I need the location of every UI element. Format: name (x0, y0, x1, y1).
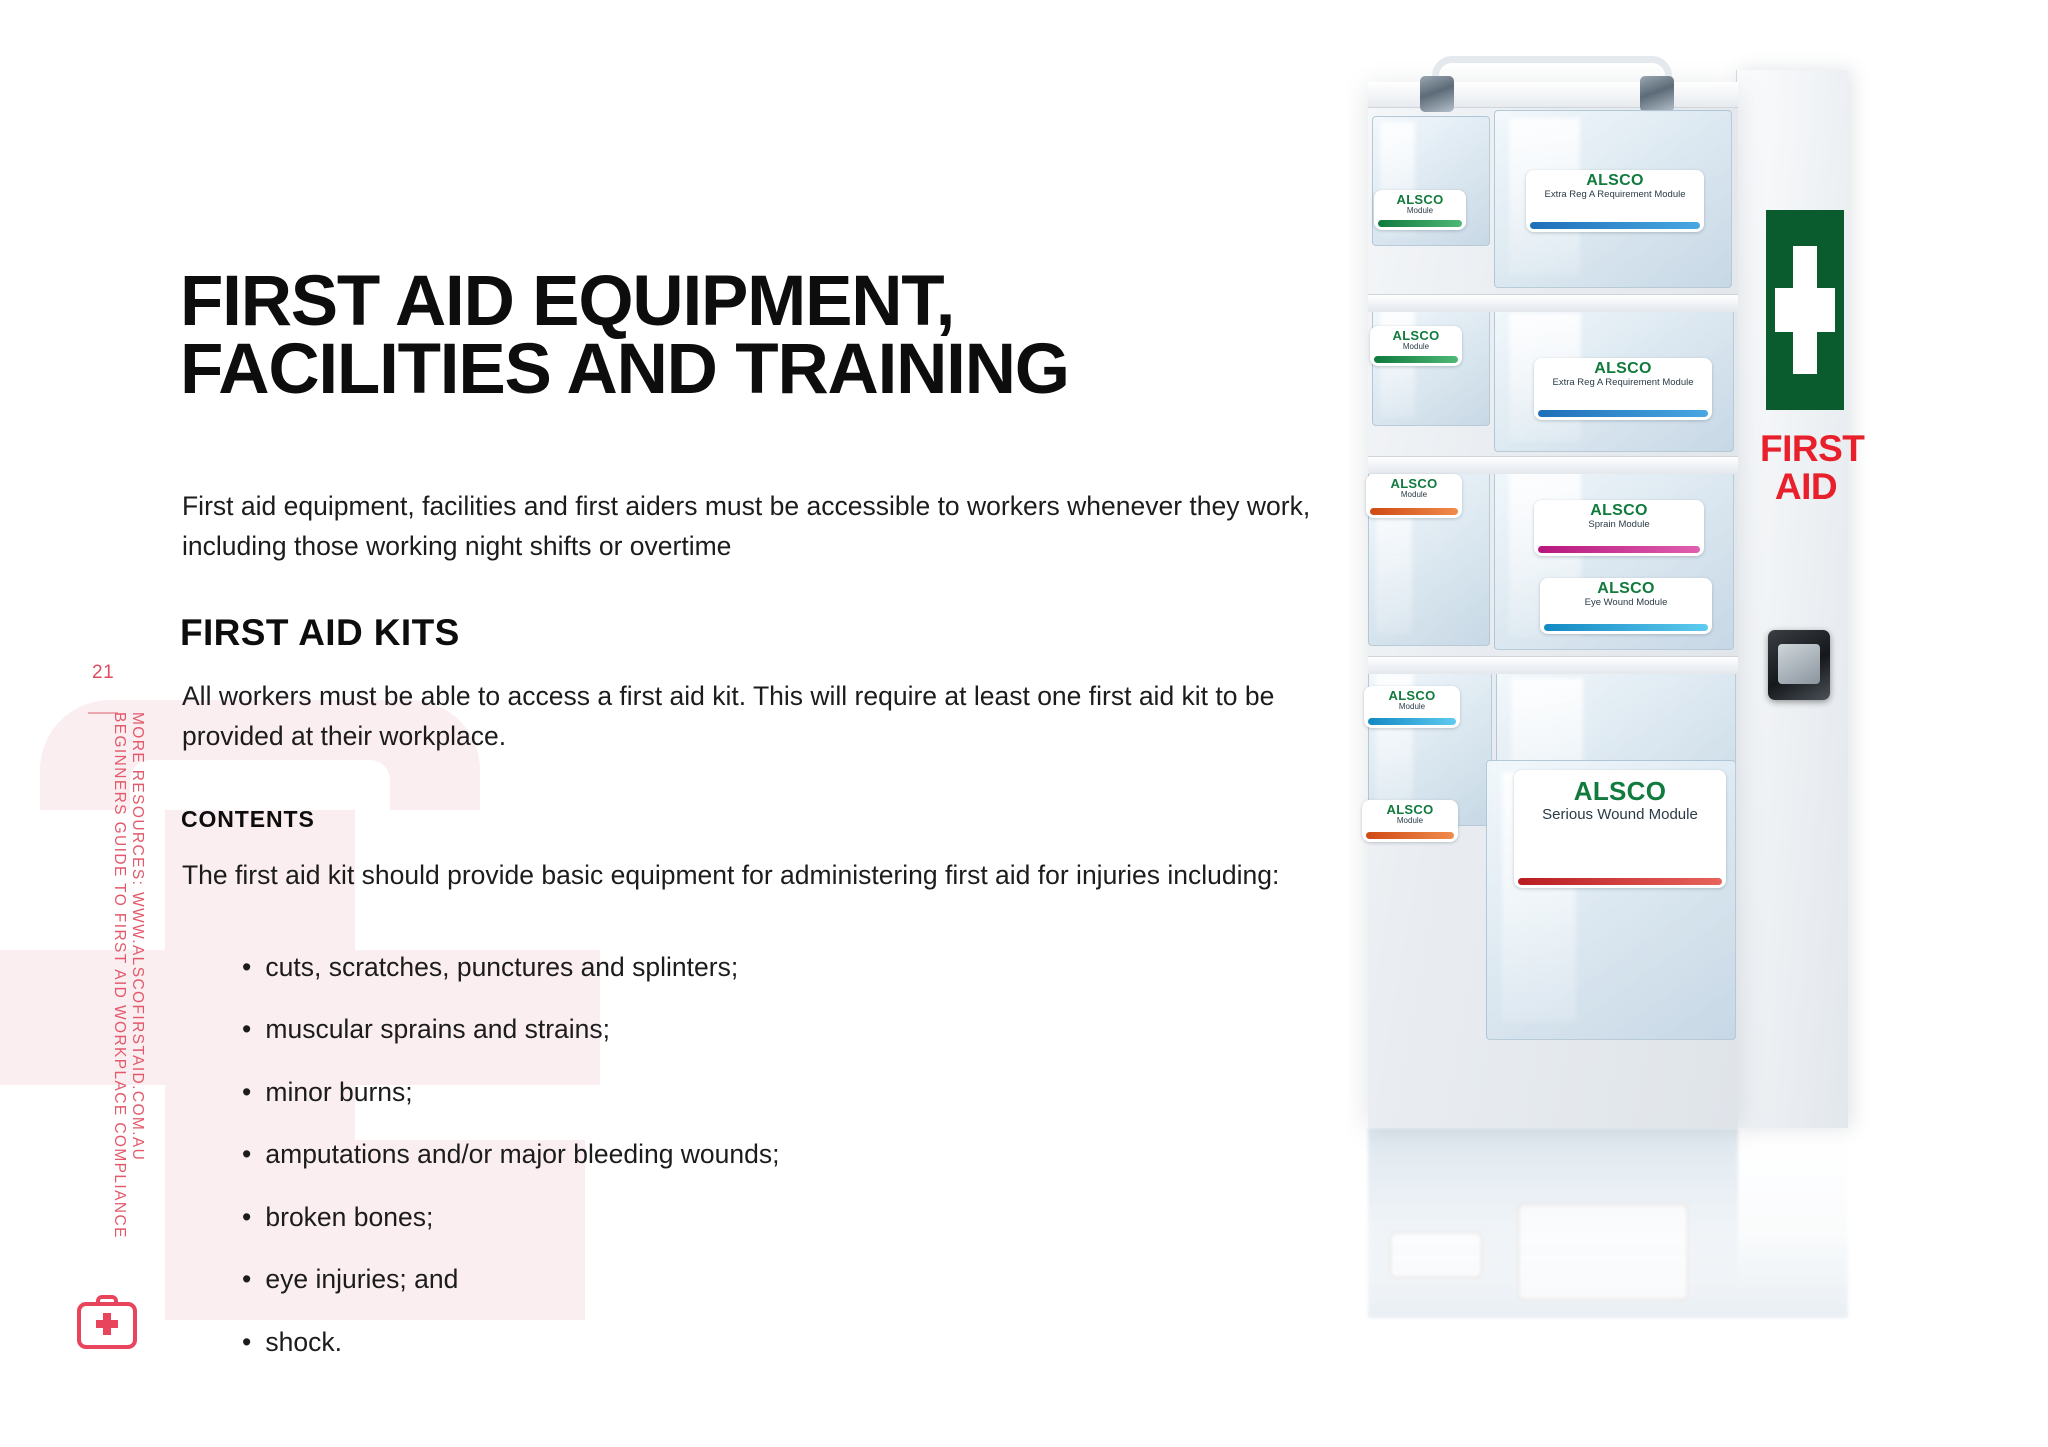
module-brand: ALSCO (1540, 581, 1712, 597)
module-label: ALSCO Eye Wound Module (1540, 578, 1712, 634)
module-label: ALSCO Module (1366, 474, 1462, 518)
module-name: Module (1374, 207, 1466, 216)
module-name: Sprain Module (1534, 520, 1704, 530)
list-item-label: broken bones; (265, 1202, 433, 1232)
handle-hinge-right (1640, 76, 1674, 112)
module-name: Module (1370, 343, 1462, 352)
first-aid-cabinet-photo: ALSCO Module ALSCO Extra Reg A Requireme… (1348, 0, 2048, 1447)
first-aid-text-line2: AID (1775, 466, 1837, 507)
module-label-serious-wound: ALSCO Serious Wound Module (1514, 770, 1726, 888)
cabinet-shelf (1368, 656, 1738, 674)
page: 21 BEGINNERS GUIDE TO FIRST AID WORKPLAC… (0, 0, 2048, 1447)
module-brand: ALSCO (1534, 503, 1704, 519)
module-name: Module (1366, 491, 1462, 500)
module-brand: ALSCO (1534, 361, 1712, 377)
list-item: • minor burns; (242, 1075, 1292, 1109)
list-item-label: cuts, scratches, punctures and splinters… (265, 952, 738, 982)
bullet-marker: • (242, 1012, 258, 1046)
module-brand: ALSCO (1374, 193, 1466, 206)
subsection-heading-contents: CONTENTS (181, 806, 315, 833)
list-item-label: minor burns; (265, 1077, 412, 1107)
page-title-line1: FIRST AID EQUIPMENT, (180, 262, 954, 341)
module-label: ALSCO Module (1370, 326, 1462, 366)
sidebar-vertical-text: BEGINNERS GUIDE TO FIRST AID WORKPLACE C… (104, 712, 164, 1332)
list-item: • broken bones; (242, 1200, 1292, 1234)
first-aid-cross-icon (1766, 210, 1844, 410)
module-brand: ALSCO (1526, 173, 1704, 189)
list-item: • eye injuries; and (242, 1262, 1292, 1296)
cabinet-latch[interactable] (1768, 630, 1830, 700)
module-name: Serious Wound Module (1514, 807, 1726, 824)
list-item: • cuts, scratches, punctures and splinte… (242, 950, 1292, 984)
module-name: Extra Reg A Requirement Module (1526, 190, 1704, 200)
module-name: Extra Reg A Requirement Module (1534, 378, 1712, 388)
module-brand: ALSCO (1514, 778, 1726, 804)
cabinet-handle[interactable] (1432, 56, 1672, 96)
page-title-line2: FACILITIES AND TRAINING (180, 330, 1069, 409)
cabinet-shelf (1368, 456, 1738, 474)
list-item-label: amputations and/or major bleeding wounds… (265, 1139, 779, 1169)
subsection-paragraph: The first aid kit should provide basic e… (182, 855, 1302, 895)
section-heading-first-aid-kits: FIRST AID KITS (180, 612, 460, 654)
section-paragraph: All workers must be able to access a fir… (182, 676, 1332, 757)
module-label: ALSCO Sprain Module (1534, 500, 1704, 556)
injury-bullet-list: • cuts, scratches, punctures and splinte… (242, 950, 1292, 1387)
page-title: FIRST AID EQUIPMENT,FACILITIES AND TRAIN… (180, 268, 1360, 404)
list-item-label: muscular sprains and strains; (265, 1014, 610, 1044)
bullet-marker: • (242, 1137, 258, 1171)
cabinet: ALSCO Module ALSCO Extra Reg A Requireme… (1368, 70, 1848, 1150)
sidebar-line-title: BEGINNERS GUIDE TO FIRST AID WORKPLACE C… (110, 712, 128, 1239)
list-item: • amputations and/or major bleeding woun… (242, 1137, 1292, 1171)
module-brand: ALSCO (1366, 477, 1462, 490)
module-label: ALSCO Extra Reg A Requirement Module (1526, 170, 1704, 232)
main-content: FIRST AID EQUIPMENT,FACILITIES AND TRAIN… (180, 0, 1380, 1447)
intro-paragraph: First aid equipment, facilities and firs… (182, 486, 1337, 567)
cabinet-reflection (1368, 1128, 1848, 1318)
list-item-label: shock. (265, 1327, 342, 1357)
cabinet-shelf (1368, 294, 1738, 312)
bullet-marker: • (242, 950, 258, 984)
list-item: • shock. (242, 1325, 1292, 1359)
first-aid-text-line1: FIRST (1760, 428, 1864, 469)
sidebar: 21 BEGINNERS GUIDE TO FIRST AID WORKPLAC… (0, 0, 175, 1447)
bullet-marker: • (242, 1200, 258, 1234)
handle-hinge-left (1420, 76, 1454, 112)
bullet-marker: • (242, 1262, 258, 1296)
bullet-marker: • (242, 1325, 258, 1359)
sidebar-line-resources: MORE RESOURCES: WWW.ALSCOFIRSTAID.COM.AU (128, 712, 146, 1161)
bullet-marker: • (242, 1075, 258, 1109)
module-label: ALSCO Module (1374, 190, 1466, 230)
page-number: 21 (92, 662, 114, 684)
module-label: ALSCO Extra Reg A Requirement Module (1534, 358, 1712, 420)
first-aid-kit-icon (76, 1295, 138, 1351)
list-item: • muscular sprains and strains; (242, 1012, 1292, 1046)
module-brand: ALSCO (1370, 329, 1462, 342)
cabinet-first-aid-text: FIRST AID (1760, 430, 1852, 505)
list-item-label: eye injuries; and (265, 1264, 458, 1294)
module-name: Eye Wound Module (1540, 598, 1712, 608)
